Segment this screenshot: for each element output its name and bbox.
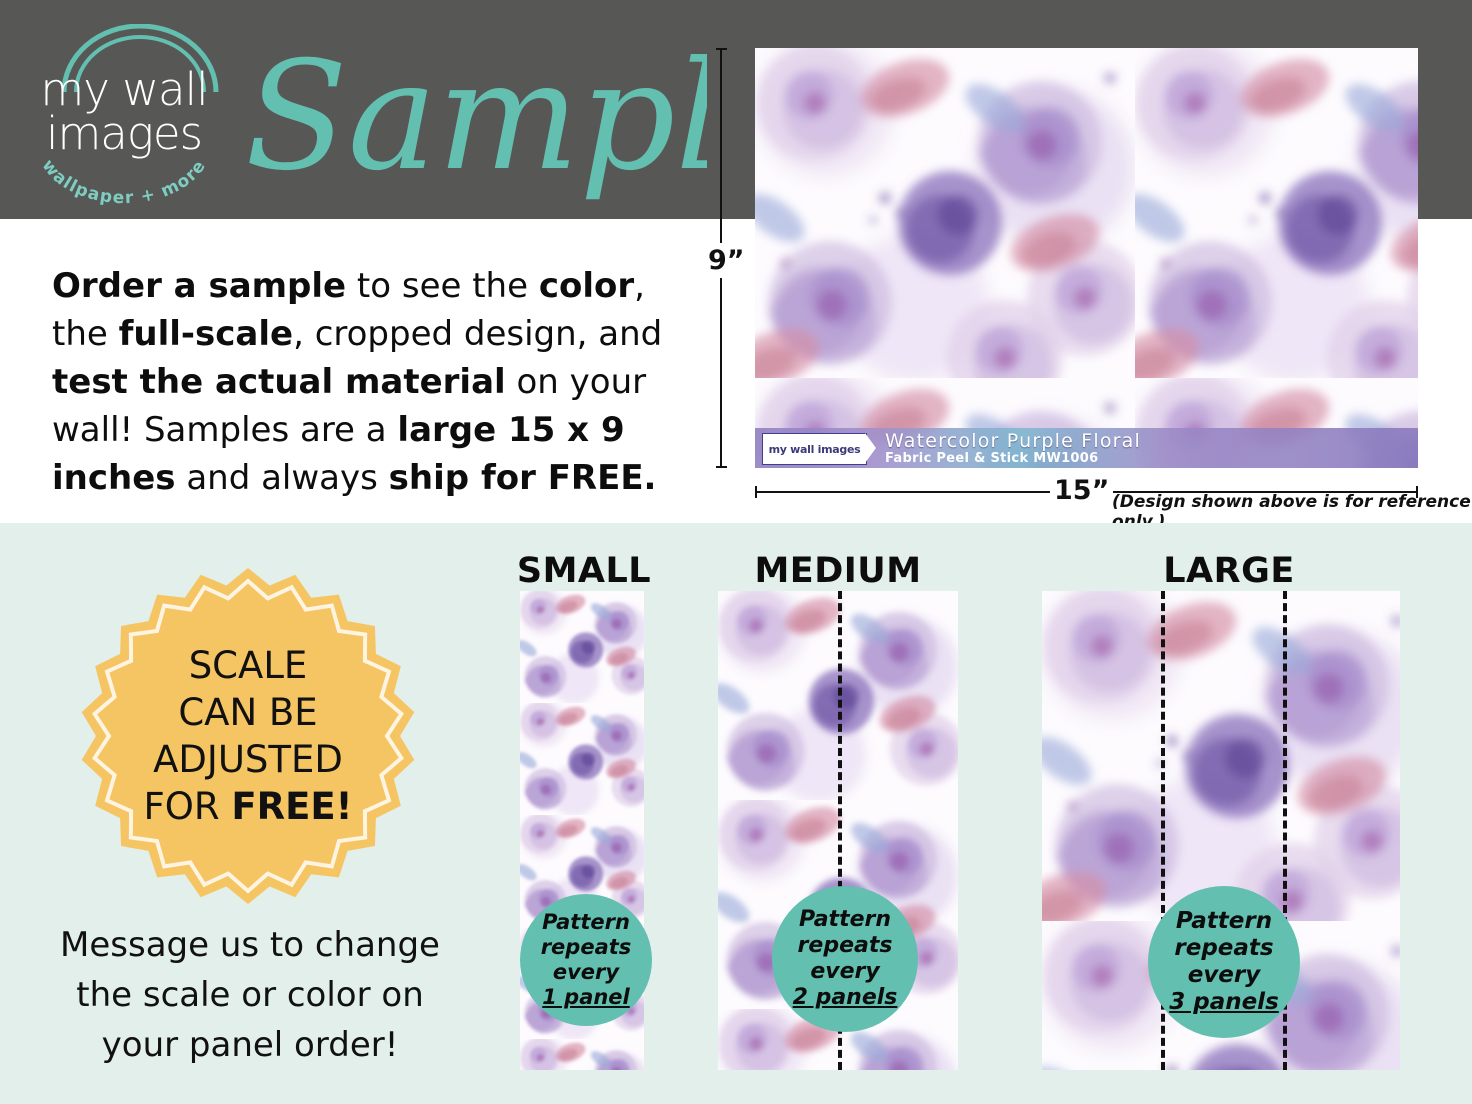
repeat-small-line-2: repeats (541, 935, 632, 960)
repeat-large-line-3: every (1169, 962, 1279, 989)
repeat-badge-large: Pattern repeats every 3 panels (1148, 886, 1300, 1038)
samples-script-word: Samples (237, 18, 707, 208)
sample-image-label: my wall images Watercolor Purple Floral … (755, 428, 1418, 468)
repeat-large-line-1: Pattern (1169, 908, 1279, 935)
label-design-name: Watercolor Purple Floral (885, 430, 1141, 452)
brand-logo: my wall images wallpaper + more (24, 22, 224, 202)
badge-line-1: SCALE (189, 642, 308, 689)
height-dimension-label: 9” (705, 243, 748, 278)
scale-title-small: SMALL (460, 551, 708, 591)
scale-title-medium: MEDIUM (714, 551, 962, 591)
label-arrow-icon (865, 433, 876, 463)
repeat-small-line-4: 1 panel (542, 985, 630, 1009)
logo-tagline-text: wallpaper + more (38, 158, 211, 208)
badge-for-label: FOR (143, 785, 231, 828)
scale-title-large: LARGE (1105, 551, 1353, 591)
repeat-small-line-1: Pattern (541, 910, 632, 935)
repeat-medium-line-1: Pattern (793, 907, 898, 933)
logo-line-1: my wall (24, 68, 224, 112)
badge-free-label: FREE! (231, 785, 352, 828)
message-us-paragraph: Message us to change the scale or color … (30, 920, 470, 1070)
badge-line-3: ADJUSTED (153, 736, 343, 783)
sample-preview-image: my wall images Watercolor Purple Floral … (755, 48, 1418, 468)
badge-line-4: FOR FREE! (143, 783, 352, 830)
repeat-badge-medium: Pattern repeats every 2 panels (772, 886, 918, 1032)
message-line-1: Message us to change (30, 920, 470, 970)
repeat-large-line-4: 3 panels (1169, 989, 1279, 1015)
samples-script-text: Samples (245, 30, 707, 204)
label-mini-logo-text: my wall images (769, 443, 861, 456)
sample-description-paragraph: Order a sample to see the color, the ful… (52, 262, 692, 502)
repeat-medium-line-2: repeats (793, 933, 898, 959)
logo-wordmark: my wall images (24, 68, 224, 156)
message-line-3: your panel order! (30, 1020, 470, 1070)
message-line-2: the scale or color on (30, 970, 470, 1020)
repeat-medium-line-4: 2 panels (793, 985, 898, 1010)
scale-free-badge-text: SCALE CAN BE ADJUSTED FOR FREE! (78, 566, 418, 906)
label-mini-logo: my wall images (762, 433, 867, 465)
logo-tagline: wallpaper + more (34, 158, 214, 218)
repeat-badge-small: Pattern repeats every 1 panel (520, 894, 652, 1026)
badge-line-2: CAN BE (178, 689, 317, 736)
repeat-large-line-2: repeats (1169, 935, 1279, 962)
floral-artwork (755, 48, 1418, 468)
repeat-small-line-3: every (541, 960, 632, 985)
width-dimension-label: 15” (1050, 475, 1113, 506)
repeat-medium-line-3: every (793, 959, 898, 985)
label-material-sku: Fabric Peel & Stick MW1006 (885, 451, 1098, 466)
logo-line-2: images (24, 112, 224, 156)
